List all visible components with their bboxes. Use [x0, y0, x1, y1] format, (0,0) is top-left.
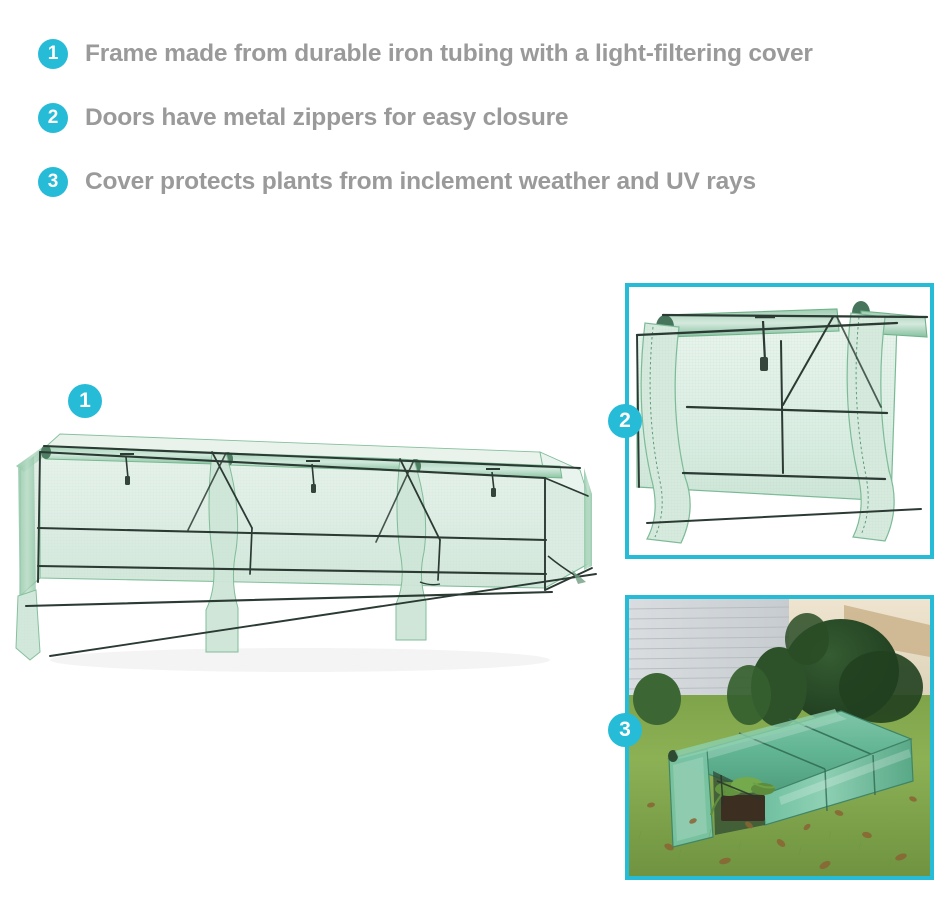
- small-shrub: [633, 673, 681, 725]
- feature-item-3: 3 Cover protects plants from inclement w…: [38, 156, 928, 208]
- lifestyle-garden-scene: [629, 599, 930, 876]
- feature-item-2: 2 Doors have metal zippers for easy clos…: [38, 92, 928, 144]
- zipper-detail-illustration: [629, 287, 930, 555]
- lifestyle-badge-3: 3: [608, 713, 642, 747]
- feature-text-2: Doors have metal zippers for easy closur…: [85, 105, 568, 132]
- feature-badge-1: 1: [38, 39, 68, 69]
- feature-item-1: 1 Frame made from durable iron tubing wi…: [38, 28, 928, 80]
- feature-list: 1 Frame made from durable iron tubing wi…: [38, 28, 928, 220]
- feature-badge-2: 2: [38, 103, 68, 133]
- planter-box: [721, 795, 765, 821]
- detail-panel-zipper: [625, 283, 934, 559]
- feature-badge-3: 3: [38, 167, 68, 197]
- feature-text-3: Cover protects plants from inclement wea…: [85, 169, 756, 196]
- zipper-detail-scene: [629, 287, 930, 555]
- left-edge-trim: [18, 456, 36, 608]
- hero-product-image: 1: [0, 360, 620, 700]
- lifestyle-panel-garden: [625, 595, 934, 880]
- hero-badge-1: 1: [68, 384, 102, 418]
- zipper-pull-tab: [760, 357, 768, 371]
- detail-badge-2: 2: [608, 404, 642, 438]
- right-edge-trim: [584, 468, 592, 570]
- ground-shadow: [50, 648, 550, 672]
- feature-text-1: Frame made from durable iron tubing with…: [85, 41, 813, 68]
- garden-scene-illustration: [629, 599, 930, 876]
